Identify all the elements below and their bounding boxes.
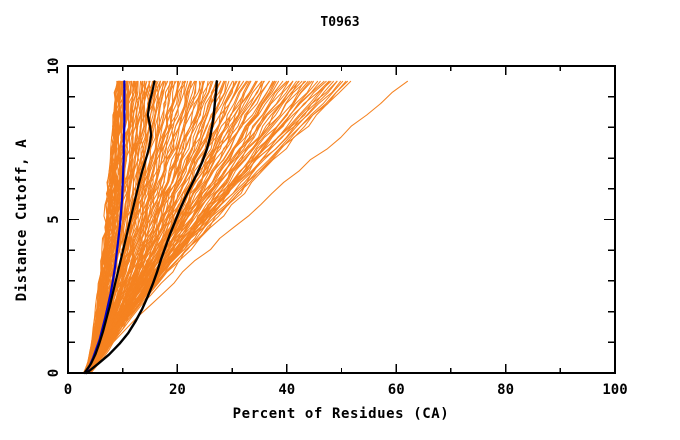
x-tick-label: 0: [64, 382, 72, 398]
y-tick-label: 10: [46, 58, 62, 75]
x-tick-label: 20: [169, 382, 186, 398]
x-tick-label: 40: [278, 382, 295, 398]
y-tick-label: 0: [46, 369, 62, 377]
x-tick-label: 100: [602, 382, 627, 398]
chart-container: T0963 020406080100 0510 Percent of Resid…: [0, 0, 680, 440]
x-axis-label: Percent of Residues (CA): [233, 406, 450, 422]
chart-title: T0963: [320, 15, 359, 30]
x-tick-label: 80: [497, 382, 514, 398]
chart-canvas: T0963 020406080100 0510 Percent of Resid…: [0, 0, 680, 440]
x-tick-label: 60: [388, 382, 405, 398]
y-axis-label: Distance Cutoff, A: [14, 139, 30, 302]
y-tick-label: 5: [46, 215, 62, 223]
